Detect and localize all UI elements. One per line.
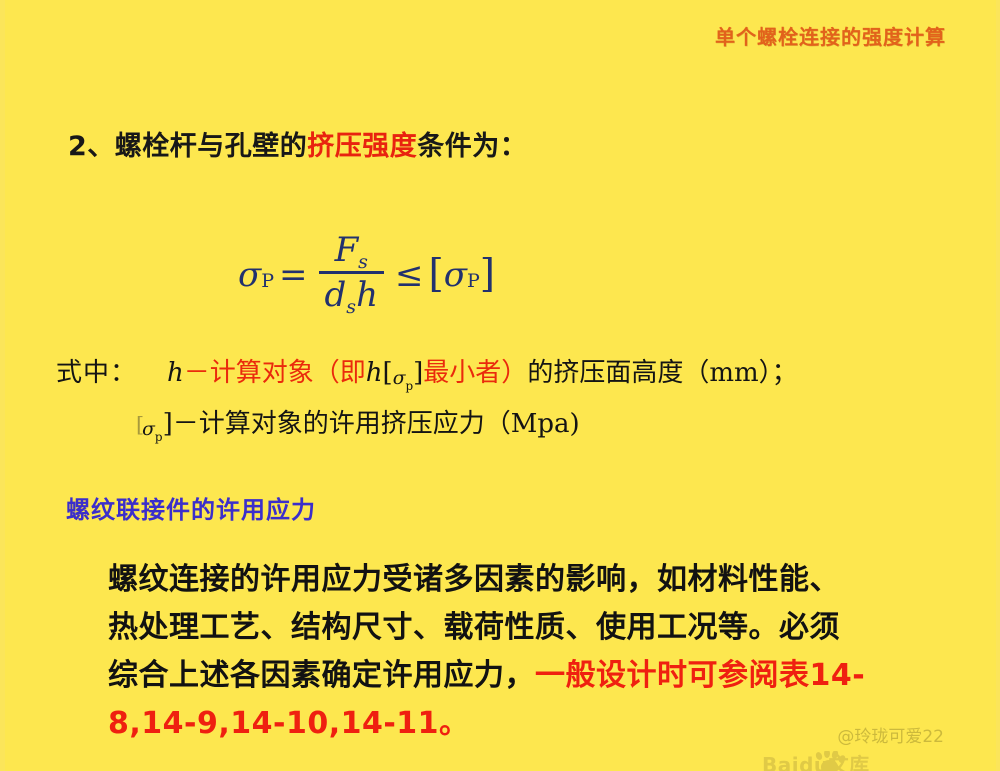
slide-right-edge [996,0,1000,771]
where-variable-h: h [167,358,184,388]
body-line-2: 热处理工艺、结构尺寸、载荷性质、使用工况等。必须 [108,604,968,652]
formula-rhs-subscript: P [467,270,480,292]
where-inline-bracket-open: [ [383,358,393,388]
formula-fraction: Fs dsh [319,230,384,315]
where-inline-h: h [366,358,383,388]
where-dash-1: － [184,358,210,388]
formula-denominator-symbol: d [325,275,347,315]
slide-canvas: 单个螺栓连接的强度计算 2、螺栓杆与孔壁的挤压强度条件为： σP = Fs ds… [0,0,1000,771]
where2-sigma: σ [142,419,155,440]
where-red-part-1: 计算对象（即 [210,358,366,388]
formula-lhs-sigma: σ [238,255,261,295]
formula-bracket-open: [ [428,252,443,297]
section-heading-highlight: 挤压强度 [307,131,417,162]
body-line-3-red: 一般设计时可参阅表14- [535,658,865,693]
section-heading: 2、螺栓杆与孔壁的挤压强度条件为： [68,124,527,163]
section-heading-prefix: 2、螺栓杆与孔壁的 [68,131,307,162]
slide-header-title: 单个螺栓连接的强度计算 [715,21,946,50]
where2-dash: － [173,409,199,439]
paw-icon [814,751,844,771]
formula-numerator-symbol: F [335,230,359,270]
body-line-1: 螺纹连接的许用应力受诸多因素的影响，如材料性能、 [108,556,968,604]
where2-text: 计算对象的许用挤压应力（Mpa) [199,409,580,439]
formula-numerator: Fs [329,230,374,271]
where-clause-line-1: 式中：h－计算对象（即h[σp]最小者）的挤压面高度（mm）； [56,352,798,389]
formula-denominator-tail: h [356,275,378,315]
slide-left-edge [0,0,5,771]
watermark-handle: @玲珑可爱22 [837,722,944,747]
baidu-wenku-logo: Baidu文库 [762,751,912,771]
formula-denominator: dsh [319,274,384,315]
body-line-3: 综合上述各因素确定许用应力，一般设计时可参阅表14- [108,652,968,700]
section-heading-suffix: 条件为： [417,131,527,162]
formula-equals: = [279,255,308,295]
where-inline-sigma: σ [393,368,406,389]
body-line-3-black: 综合上述各因素确定许用应力， [108,658,535,693]
subsection-heading: 螺纹联接件的许用应力 [66,490,316,525]
bearing-stress-formula: σP = Fs dsh ≤ [σP] [238,232,495,317]
where-inline-sigma-subscript: p [405,379,413,393]
where-black-tail: 的挤压面高度（mm）； [527,358,797,388]
where2-sigma-subscript: p [155,430,163,444]
where-clause-line-2: [σp]－计算对象的许用挤压应力（Mpa) [134,403,580,440]
formula-rhs-sigma: σ [444,255,467,295]
where-inline-bracket-close: ] [413,358,423,388]
formula-denominator-subscript: s [346,296,356,318]
body-paragraph: 螺纹连接的许用应力受诸多因素的影响，如材料性能、 热处理工艺、结构尺寸、载荷性质… [108,556,968,748]
formula-relation: ≤ [395,255,424,295]
formula-numerator-subscript: s [358,251,368,273]
where-red-part-2: 最小者） [423,358,527,388]
formula-bracket-close: ] [480,252,495,297]
where-label: 式中： [56,358,137,388]
where2-bracket-close: ] [163,409,173,439]
formula-lhs-subscript: P [261,270,274,292]
